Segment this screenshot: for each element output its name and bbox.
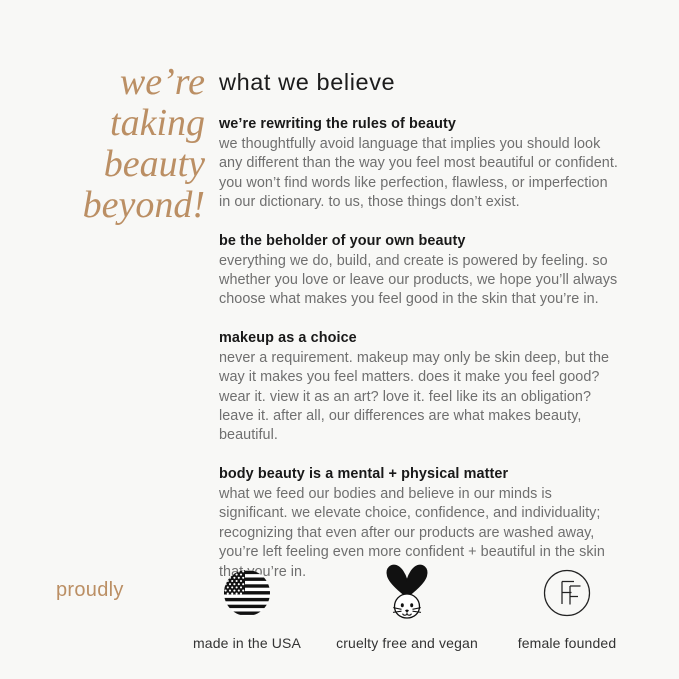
proudly-label: proudly bbox=[56, 578, 124, 602]
belief-heading: we’re rewriting the rules of beauty bbox=[219, 114, 623, 134]
badge-cruelty-free: cruelty free and vegan bbox=[332, 562, 482, 651]
belief-heading: body beauty is a mental + physical matte… bbox=[219, 464, 623, 484]
display-headline: we’re taking beauty beyond! bbox=[0, 62, 205, 226]
belief-section: be the beholder of your own beauty every… bbox=[219, 231, 623, 310]
headline-line-4: beyond! bbox=[0, 185, 205, 226]
badge-made-in-usa: made in the USA bbox=[172, 562, 322, 651]
belief-body: never a requirement. makeup may only be … bbox=[219, 349, 623, 446]
page-title: what we believe bbox=[219, 68, 623, 96]
belief-section: makeup as a choice never a requirement. … bbox=[219, 328, 623, 446]
headline-line-3: beauty bbox=[0, 144, 205, 185]
page-canvas: we’re taking beauty beyond! what we beli… bbox=[0, 0, 679, 679]
belief-heading: be the beholder of your own beauty bbox=[219, 231, 623, 251]
badge-label: made in the USA bbox=[193, 635, 301, 651]
usa-flag-circle-icon bbox=[223, 562, 271, 624]
belief-body: everything we do, build, and create is p… bbox=[219, 252, 623, 310]
badge-row: made in the USA bbox=[172, 562, 642, 651]
badge-label: cruelty free and vegan bbox=[336, 635, 478, 651]
headline-line-1: we’re bbox=[0, 62, 205, 103]
badge-label: female founded bbox=[518, 635, 617, 651]
belief-heading: makeup as a choice bbox=[219, 328, 623, 348]
beliefs-content: what we believe we’re rewriting the rule… bbox=[219, 68, 623, 582]
female-founded-monogram-icon bbox=[542, 562, 592, 624]
badge-female-founded: female founded bbox=[492, 562, 642, 651]
headline-line-2: taking bbox=[0, 103, 205, 144]
cruelty-free-bunny-icon bbox=[381, 562, 433, 624]
belief-section: we’re rewriting the rules of beauty we t… bbox=[219, 114, 623, 213]
belief-body: we thoughtfully avoid language that impl… bbox=[219, 135, 623, 213]
